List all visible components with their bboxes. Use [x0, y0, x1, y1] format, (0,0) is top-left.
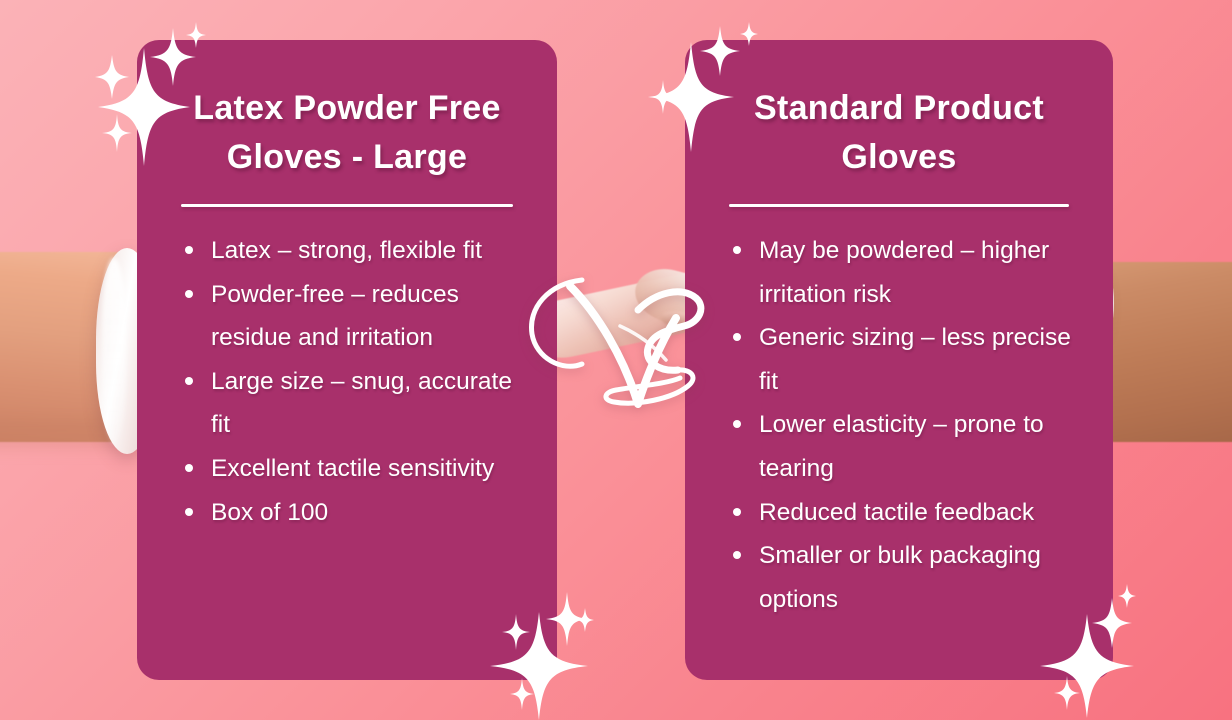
- comparison-card-left: Latex Powder Free Gloves - Large Latex –…: [137, 40, 557, 680]
- list-item: Smaller or bulk packaging options: [729, 534, 1079, 621]
- list-item: Lower elasticity – prone to tearing: [729, 403, 1079, 490]
- versus-monogram: [520, 266, 720, 416]
- card-right-divider: [729, 204, 1069, 207]
- list-item: Latex – strong, flexible fit: [181, 229, 523, 273]
- card-left-feature-list: Latex – strong, flexible fit Powder-free…: [167, 229, 527, 534]
- card-left-divider: [181, 204, 513, 207]
- list-item: Box of 100: [181, 491, 523, 535]
- list-item: May be powdered – higher irritation risk: [729, 229, 1079, 316]
- list-item: Excellent tactile sensitivity: [181, 447, 523, 491]
- card-right-title: Standard Product Gloves: [715, 84, 1083, 182]
- list-item: Large size – snug, accurate fit: [181, 360, 523, 447]
- list-item: Generic sizing – less precise fit: [729, 316, 1079, 403]
- card-left-title: Latex Powder Free Gloves - Large: [167, 84, 527, 182]
- list-item: Powder-free – reduces residue and irrita…: [181, 273, 523, 360]
- card-right-feature-list: May be powdered – higher irritation risk…: [715, 229, 1083, 621]
- comparison-card-right: Standard Product Gloves May be powdered …: [685, 40, 1113, 680]
- list-item: Reduced tactile feedback: [729, 491, 1079, 535]
